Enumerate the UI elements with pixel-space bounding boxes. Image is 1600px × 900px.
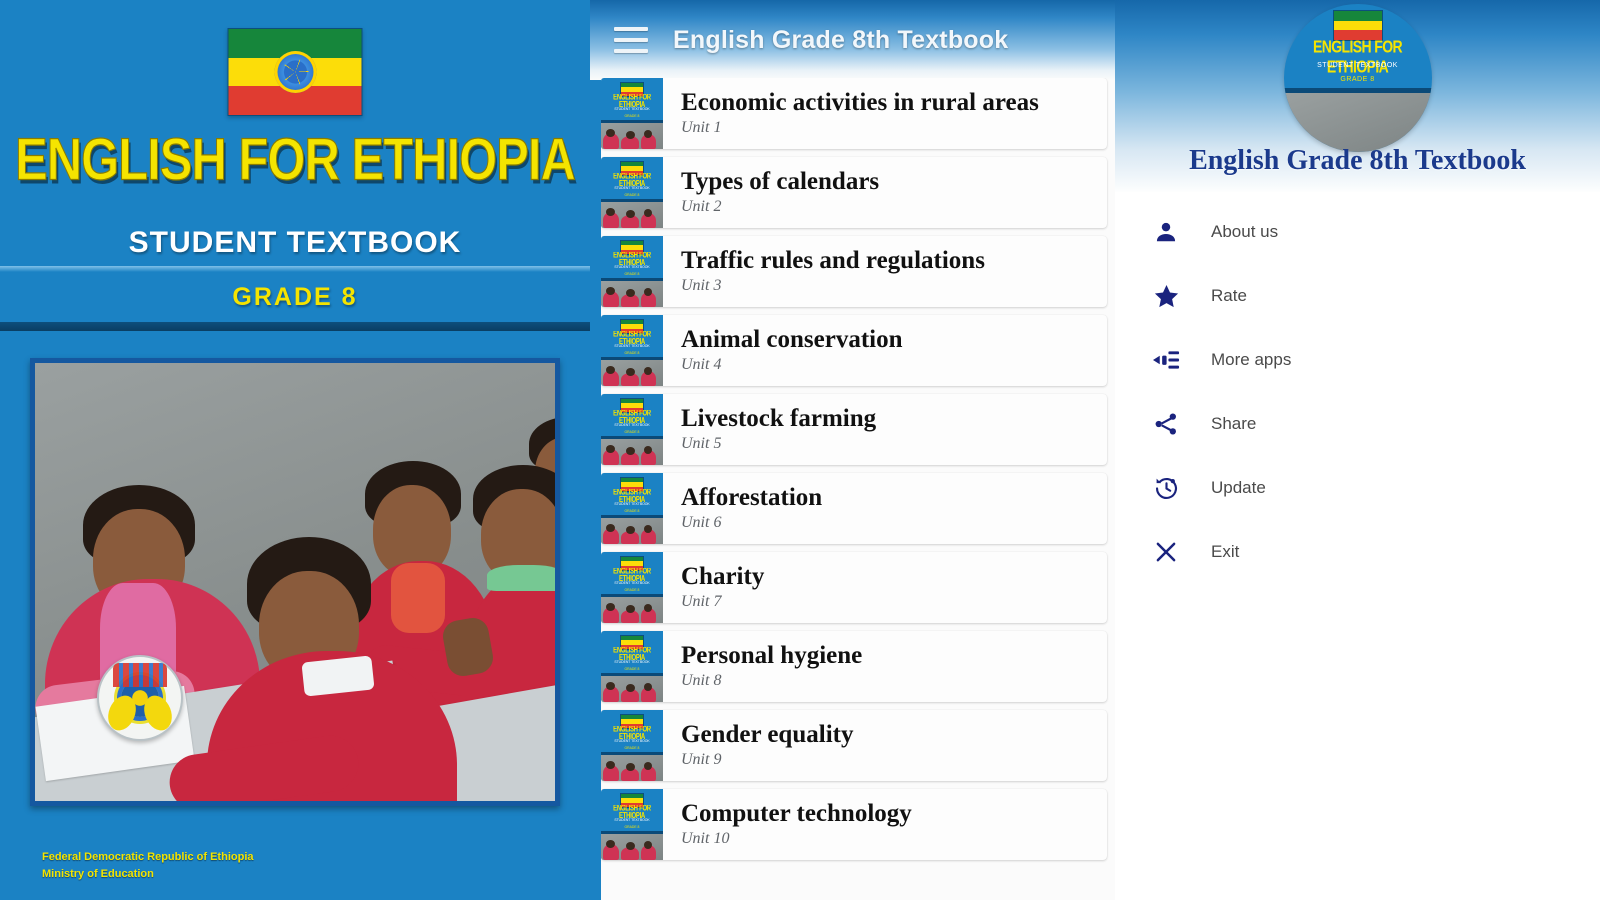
drawer-item-rate[interactable]: Rate [1115, 264, 1600, 328]
drawer-item-about-us[interactable]: About us [1115, 200, 1600, 264]
drawer-item-label: Rate [1211, 286, 1247, 306]
unit-item-title: Traffic rules and regulations [681, 248, 1099, 274]
unit-item-texts: Personal hygieneUnit 8 [663, 643, 1107, 690]
classroom-photo [30, 358, 560, 806]
book-cover-thumbnail: ENGLISH FOR ETHIOPIASTUDENT TEXTBOOKGRAD… [601, 78, 663, 149]
book-cover-thumbnail: ENGLISH FOR ETHIOPIASTUDENT TEXTBOOKGRAD… [601, 789, 663, 860]
navigation-drawer: ENGLISH FOR ETHIOPIA STUDENT TEXTBOOK GR… [1115, 0, 1600, 900]
drawer-item-label: About us [1211, 222, 1278, 242]
unit-item-texts: Animal conservationUnit 4 [663, 327, 1107, 374]
book-cover-thumbnail: ENGLISH FOR ETHIOPIASTUDENT TEXTBOOKGRAD… [601, 631, 663, 702]
book-cover-thumbnail: ENGLISH FOR ETHIOPIASTUDENT TEXTBOOKGRAD… [601, 552, 663, 623]
unit-item-subtitle: Unit 10 [681, 830, 1099, 848]
thumbnail-grade: GRADE 8 [601, 667, 663, 671]
unit-list[interactable]: ENGLISH FOR ETHIOPIASTUDENT TEXTBOOKGRAD… [601, 78, 1115, 900]
unit-list-item[interactable]: ENGLISH FOR ETHIOPIASTUDENT TEXTBOOKGRAD… [601, 315, 1107, 386]
thumbnail-grade: GRADE 8 [601, 114, 663, 118]
unit-item-title: Afforestation [681, 485, 1099, 511]
drawer-title: English Grade 8th Textbook [1115, 145, 1600, 177]
unit-list-item[interactable]: ENGLISH FOR ETHIOPIASTUDENT TEXTBOOKGRAD… [601, 78, 1107, 149]
drawer-item-more-apps[interactable]: More apps [1115, 328, 1600, 392]
unit-item-texts: AfforestationUnit 6 [663, 485, 1107, 532]
app-title: English Grade 8th Textbook [673, 26, 1008, 55]
panel-edge-strip [590, 0, 601, 900]
cover-footer-line2: Ministry of Education [42, 866, 254, 883]
unit-item-texts: Types of calendarsUnit 2 [663, 169, 1107, 216]
star-icon [1149, 279, 1183, 313]
share-nodes-icon [1149, 407, 1183, 441]
unit-item-subtitle: Unit 5 [681, 435, 1099, 453]
thumbnail-grade: GRADE 8 [601, 746, 663, 750]
thumbnail-grade: GRADE 8 [601, 193, 663, 197]
unit-list-item[interactable]: ENGLISH FOR ETHIOPIASTUDENT TEXTBOOKGRAD… [601, 710, 1107, 781]
unit-item-subtitle: Unit 2 [681, 198, 1099, 216]
unit-item-title: Economic activities in rural areas [681, 90, 1099, 116]
drawer-item-label: Update [1211, 478, 1266, 498]
book-cover-thumbnail: ENGLISH FOR ETHIOPIASTUDENT TEXTBOOKGRAD… [601, 710, 663, 781]
cover-dark-band [0, 322, 590, 331]
thumbnail-grade: GRADE 8 [601, 430, 663, 434]
ministry-seal-icon [97, 655, 183, 741]
unit-item-title: Animal conservation [681, 327, 1099, 353]
unit-list-panel: English Grade 8th Textbook ENGLISH FOR E… [590, 0, 1115, 900]
unit-item-subtitle: Unit 3 [681, 277, 1099, 295]
unit-item-texts: CharityUnit 7 [663, 564, 1107, 611]
book-cover-thumbnail: ENGLISH FOR ETHIOPIASTUDENT TEXTBOOKGRAD… [601, 236, 663, 307]
unit-item-subtitle: Unit 6 [681, 514, 1099, 532]
thumbnail-grade: GRADE 8 [601, 272, 663, 276]
drawer-item-update[interactable]: Update [1115, 456, 1600, 520]
unit-list-item[interactable]: ENGLISH FOR ETHIOPIASTUDENT TEXTBOOKGRAD… [601, 552, 1107, 623]
unit-item-subtitle: Unit 7 [681, 593, 1099, 611]
book-cover-panel: ENGLISH FOR ETHIOPIA STUDENT TEXTBOOK GR… [0, 0, 590, 900]
unit-item-title: Livestock farming [681, 406, 1099, 432]
cover-footer: Federal Democratic Republic of Ethiopia … [42, 849, 254, 882]
queue-playlist-icon [1149, 343, 1183, 377]
drawer-item-label: More apps [1211, 350, 1291, 370]
unit-item-texts: Gender equalityUnit 9 [663, 722, 1107, 769]
unit-list-item[interactable]: ENGLISH FOR ETHIOPIASTUDENT TEXTBOOKGRAD… [601, 394, 1107, 465]
thumbnail-grade: GRADE 8 [601, 351, 663, 355]
cover-subtitle: STUDENT TEXTBOOK [0, 226, 590, 260]
avatar: ENGLISH FOR ETHIOPIA STUDENT TEXTBOOK GR… [1284, 4, 1432, 152]
book-cover-thumbnail: ENGLISH FOR ETHIOPIASTUDENT TEXTBOOKGRAD… [601, 157, 663, 228]
unit-item-subtitle: Unit 4 [681, 356, 1099, 374]
unit-item-texts: Livestock farmingUnit 5 [663, 406, 1107, 453]
person-icon [1149, 215, 1183, 249]
thumbnail-subtitle: STUDENT TEXTBOOK [601, 502, 663, 506]
drawer-item-share[interactable]: Share [1115, 392, 1600, 456]
thumbnail-subtitle: STUDENT TEXTBOOK [601, 186, 663, 190]
unit-item-title: Personal hygiene [681, 643, 1099, 669]
thumbnail-grade: GRADE 8 [601, 509, 663, 513]
cover-title: ENGLISH FOR ETHIOPIA [0, 126, 590, 194]
thumbnail-subtitle: STUDENT TEXTBOOK [601, 660, 663, 664]
unit-list-item[interactable]: ENGLISH FOR ETHIOPIASTUDENT TEXTBOOKGRAD… [601, 157, 1107, 228]
unit-list-item[interactable]: ENGLISH FOR ETHIOPIASTUDENT TEXTBOOKGRAD… [601, 789, 1107, 860]
avatar-grade: GRADE 8 [1284, 76, 1432, 83]
unit-item-texts: Economic activities in rural areasUnit 1 [663, 90, 1107, 137]
unit-item-texts: Traffic rules and regulationsUnit 3 [663, 248, 1107, 295]
thumbnail-subtitle: STUDENT TEXTBOOK [601, 423, 663, 427]
thumbnail-subtitle: STUDENT TEXTBOOK [601, 739, 663, 743]
unit-item-subtitle: Unit 8 [681, 672, 1099, 690]
drawer-menu: About usRateMore appsShareUpdateExit [1115, 192, 1600, 584]
thumbnail-subtitle: STUDENT TEXTBOOK [601, 107, 663, 111]
unit-list-item[interactable]: ENGLISH FOR ETHIOPIASTUDENT TEXTBOOKGRAD… [601, 236, 1107, 307]
ethiopian-flag-icon [228, 28, 363, 116]
thumbnail-subtitle: STUDENT TEXTBOOK [601, 344, 663, 348]
flag-star-emblem-icon [274, 51, 316, 93]
unit-item-subtitle: Unit 9 [681, 751, 1099, 769]
history-clock-icon [1149, 471, 1183, 505]
app-toolbar: English Grade 8th Textbook [590, 0, 1115, 80]
close-x-icon [1149, 535, 1183, 569]
book-cover-thumbnail: ENGLISH FOR ETHIOPIASTUDENT TEXTBOOKGRAD… [601, 315, 663, 386]
unit-item-subtitle: Unit 1 [681, 119, 1099, 137]
unit-item-texts: Computer technologyUnit 10 [663, 801, 1107, 848]
hamburger-icon[interactable] [614, 27, 648, 53]
drawer-item-label: Exit [1211, 542, 1239, 562]
unit-list-item[interactable]: ENGLISH FOR ETHIOPIASTUDENT TEXTBOOKGRAD… [601, 473, 1107, 544]
unit-item-title: Types of calendars [681, 169, 1099, 195]
drawer-item-exit[interactable]: Exit [1115, 520, 1600, 584]
avatar-subtitle: STUDENT TEXTBOOK [1284, 62, 1432, 69]
thumbnail-grade: GRADE 8 [601, 825, 663, 829]
thumbnail-subtitle: STUDENT TEXTBOOK [601, 265, 663, 269]
unit-item-title: Computer technology [681, 801, 1099, 827]
cover-divider [0, 266, 590, 272]
thumbnail-subtitle: STUDENT TEXTBOOK [601, 818, 663, 822]
cover-footer-line1: Federal Democratic Republic of Ethiopia [42, 849, 254, 866]
drawer-header: ENGLISH FOR ETHIOPIA STUDENT TEXTBOOK GR… [1115, 0, 1600, 192]
drawer-item-label: Share [1211, 414, 1256, 434]
unit-list-item[interactable]: ENGLISH FOR ETHIOPIASTUDENT TEXTBOOKGRAD… [601, 631, 1107, 702]
app-root: ENGLISH FOR ETHIOPIA STUDENT TEXTBOOK GR… [0, 0, 1600, 900]
thumbnail-subtitle: STUDENT TEXTBOOK [601, 581, 663, 585]
unit-item-title: Gender equality [681, 722, 1099, 748]
book-cover-thumbnail: ENGLISH FOR ETHIOPIASTUDENT TEXTBOOKGRAD… [601, 473, 663, 544]
cover-grade: GRADE 8 [0, 283, 590, 312]
avatar-title: ENGLISH FOR ETHIOPIA [1284, 36, 1432, 76]
book-cover-thumbnail: ENGLISH FOR ETHIOPIASTUDENT TEXTBOOKGRAD… [601, 394, 663, 465]
unit-item-title: Charity [681, 564, 1099, 590]
thumbnail-grade: GRADE 8 [601, 588, 663, 592]
